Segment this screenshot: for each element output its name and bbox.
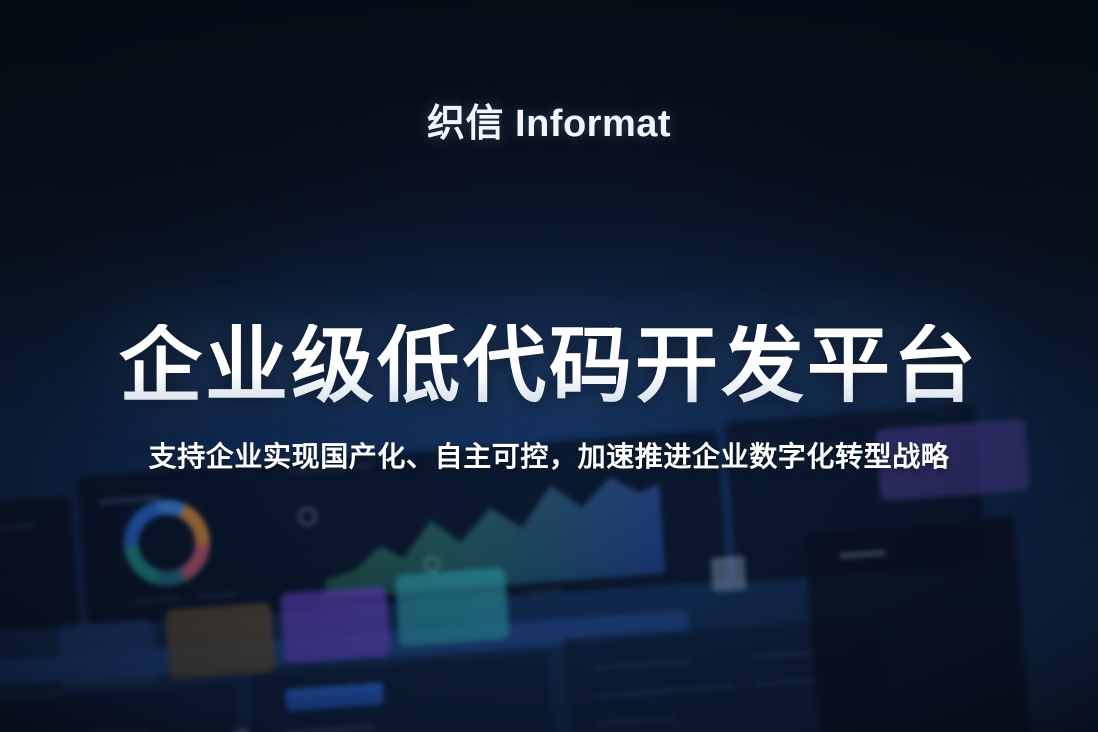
hero-content: 织信 Informat 企业级低代码开发平台 支持企业实现国产化、自主可控，加速… (0, 0, 1098, 732)
page-subtitle: 支持企业实现国产化、自主可控，加速推进企业数字化转型战略 (0, 435, 1098, 475)
brand-logo: 织信 Informat (0, 92, 1098, 147)
page-title: 企业级低代码开发平台 (0, 324, 1098, 407)
hero-banner: 织信 Informat 企业级低代码开发平台 支持企业实现国产化、自主可控，加速… (0, 0, 1098, 732)
